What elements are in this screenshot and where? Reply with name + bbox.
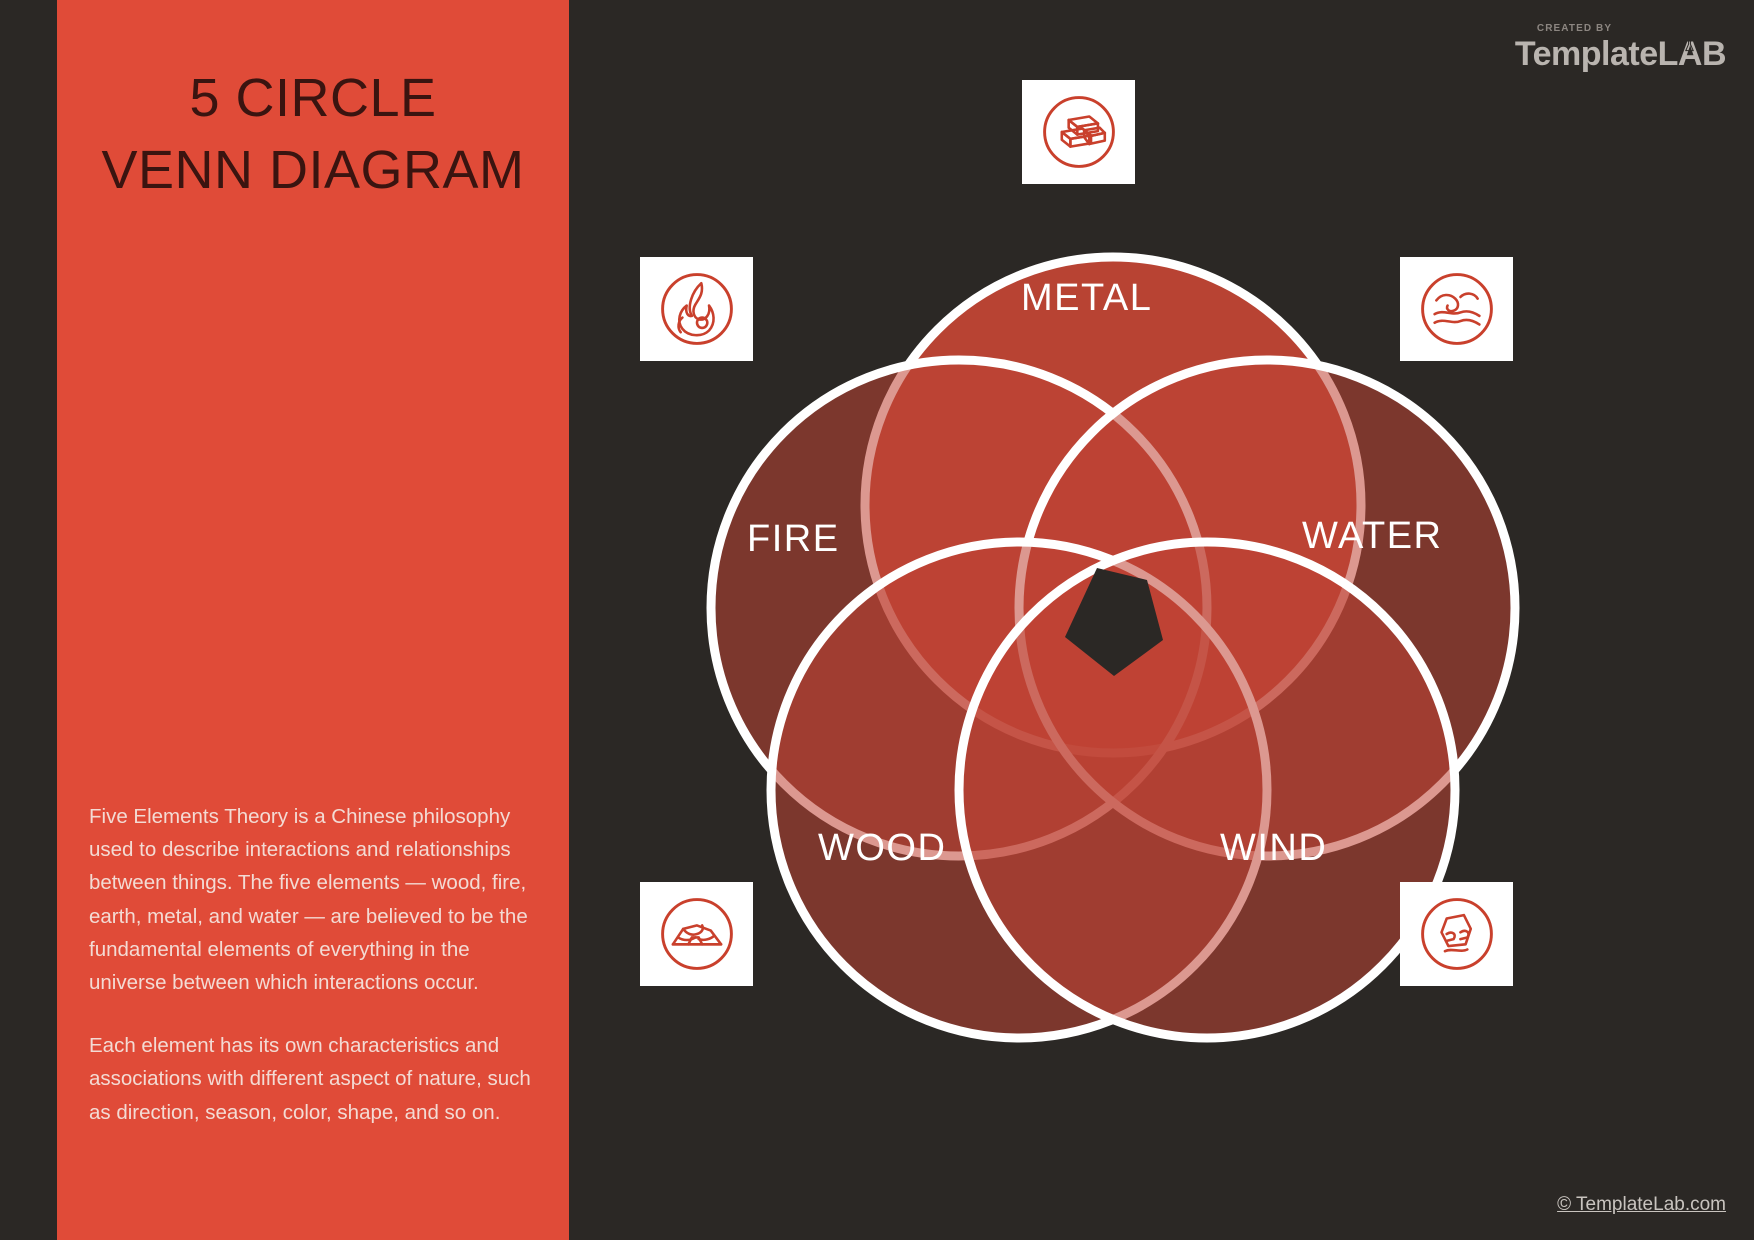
venn-circle-wind[interactable]: [959, 542, 1455, 1038]
earth-rock-icon[interactable]: [640, 882, 753, 986]
flame-icon[interactable]: [640, 257, 753, 361]
venn-diagram: METAL FIRE WATER WOOD WIND: [569, 0, 1754, 1240]
venn-label-metal: METAL: [1021, 277, 1152, 320]
venn-label-wood: WOOD: [818, 827, 946, 870]
wind-air-icon[interactable]: [1400, 882, 1513, 986]
venn-label-water: WATER: [1302, 515, 1442, 558]
paragraph-1: Five Elements Theory is a Chinese philos…: [89, 800, 544, 999]
description-text: Five Elements Theory is a Chinese philos…: [89, 800, 544, 1129]
venn-label-wind: WIND: [1220, 827, 1327, 870]
sidebar-panel: 5 CIRCLE VENN DIAGRAM Five Elements Theo…: [57, 0, 569, 1240]
left-edge-strip: [0, 0, 57, 1240]
page-title: 5 CIRCLE VENN DIAGRAM: [57, 62, 569, 207]
title-line-2: VENN DIAGRAM: [57, 134, 569, 206]
metal-ingots-icon[interactable]: [1022, 80, 1135, 184]
water-waves-icon[interactable]: [1400, 257, 1513, 361]
paragraph-2: Each element has its own characteristics…: [89, 1029, 544, 1129]
venn-label-fire: FIRE: [747, 518, 840, 561]
venn-circles-svg: [569, 0, 1754, 1240]
title-line-1: 5 CIRCLE: [57, 62, 569, 134]
